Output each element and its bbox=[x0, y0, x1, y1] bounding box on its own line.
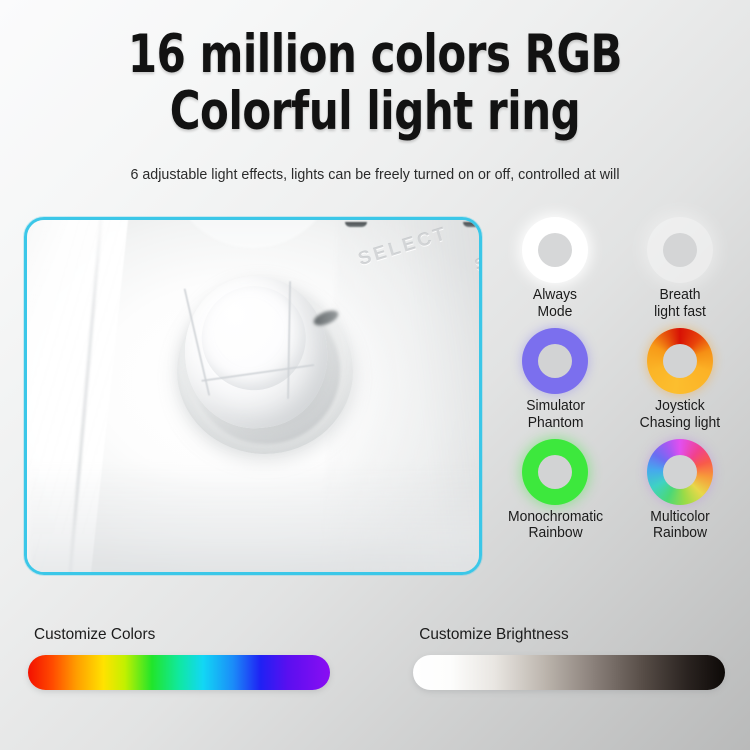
controller-vent-right bbox=[463, 222, 482, 227]
light-effect-label: Joystick Chasing light bbox=[640, 398, 720, 431]
light-effect-grid: Always Mode Breath light fast Simulator … bbox=[495, 215, 740, 541]
light-effect-multicolor-rainbow[interactable]: Multicolor Rainbow bbox=[620, 437, 741, 542]
light-ring-icon bbox=[647, 328, 713, 394]
light-ring-icon bbox=[522, 439, 588, 505]
light-effect-label: Monochromatic Rainbow bbox=[508, 509, 603, 542]
light-effect-label: Breath light fast bbox=[654, 287, 706, 320]
controller-top-recess bbox=[168, 217, 338, 248]
ring-wrap bbox=[645, 437, 715, 507]
ring-wrap bbox=[645, 215, 715, 285]
brightness-gradient-slider[interactable] bbox=[413, 655, 725, 690]
headline-line-1: 16 million colors RGB bbox=[45, 26, 705, 83]
light-effect-always-mode[interactable]: Always Mode bbox=[495, 215, 616, 320]
ring-wrap bbox=[645, 326, 715, 396]
light-effect-breath-light-fast[interactable]: Breath light fast bbox=[620, 215, 741, 320]
light-ring-icon bbox=[522, 328, 588, 394]
light-ring-icon bbox=[647, 217, 713, 283]
light-effect-monochromatic-rainbow[interactable]: Monochromatic Rainbow bbox=[495, 437, 616, 542]
ring-wrap bbox=[520, 326, 590, 396]
subtitle: 6 adjustable light effects, lights can b… bbox=[19, 166, 732, 183]
panel-bottom-shade bbox=[27, 462, 479, 575]
customize-brightness-block: Customize Brightness bbox=[413, 626, 725, 690]
light-ring-icon bbox=[522, 217, 588, 283]
customize-brightness-title: Customize Brightness bbox=[419, 626, 719, 644]
product-photo-panel: SELECT S bbox=[24, 217, 482, 575]
light-effect-label: Simulator Phantom bbox=[526, 398, 585, 431]
headline-line-2: Colorful light ring bbox=[45, 83, 705, 140]
light-effect-label: Always Mode bbox=[533, 287, 577, 320]
ring-wrap bbox=[520, 437, 590, 507]
light-effect-label: Multicolor Rainbow bbox=[650, 509, 710, 542]
ring-wrap bbox=[520, 215, 590, 285]
color-gradient-slider[interactable] bbox=[28, 655, 330, 690]
light-effect-simulator-phantom[interactable]: Simulator Phantom bbox=[495, 326, 616, 431]
light-effect-joystick-chasing-light[interactable]: Joystick Chasing light bbox=[620, 326, 741, 431]
customize-sliders: Customize Colors Customize Brightness bbox=[0, 626, 750, 722]
customize-colors-title: Customize Colors bbox=[34, 626, 324, 644]
customize-colors-block: Customize Colors bbox=[28, 626, 330, 690]
light-ring-icon bbox=[647, 439, 713, 505]
main-stage: SELECT S Always Mode Breath light fast S… bbox=[0, 211, 750, 581]
header: 16 million colors RGB Colorful light rin… bbox=[0, 0, 750, 183]
